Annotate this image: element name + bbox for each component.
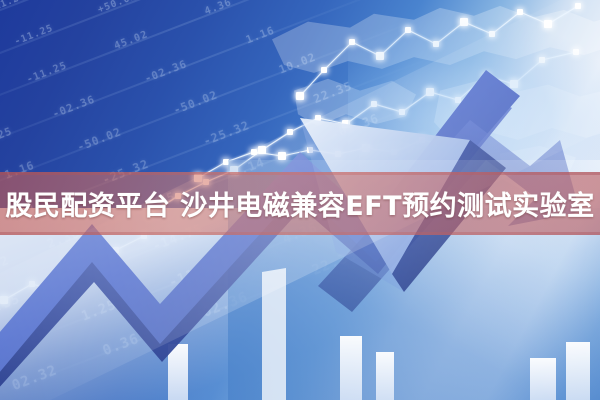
banner-image: -50.02-02.36-11.25-50.0221.36-25.32-02.3… [0, 0, 600, 400]
banner-title: 股民配资平台 沙井电磁兼容EFT预约测试实验室 [0, 172, 600, 235]
